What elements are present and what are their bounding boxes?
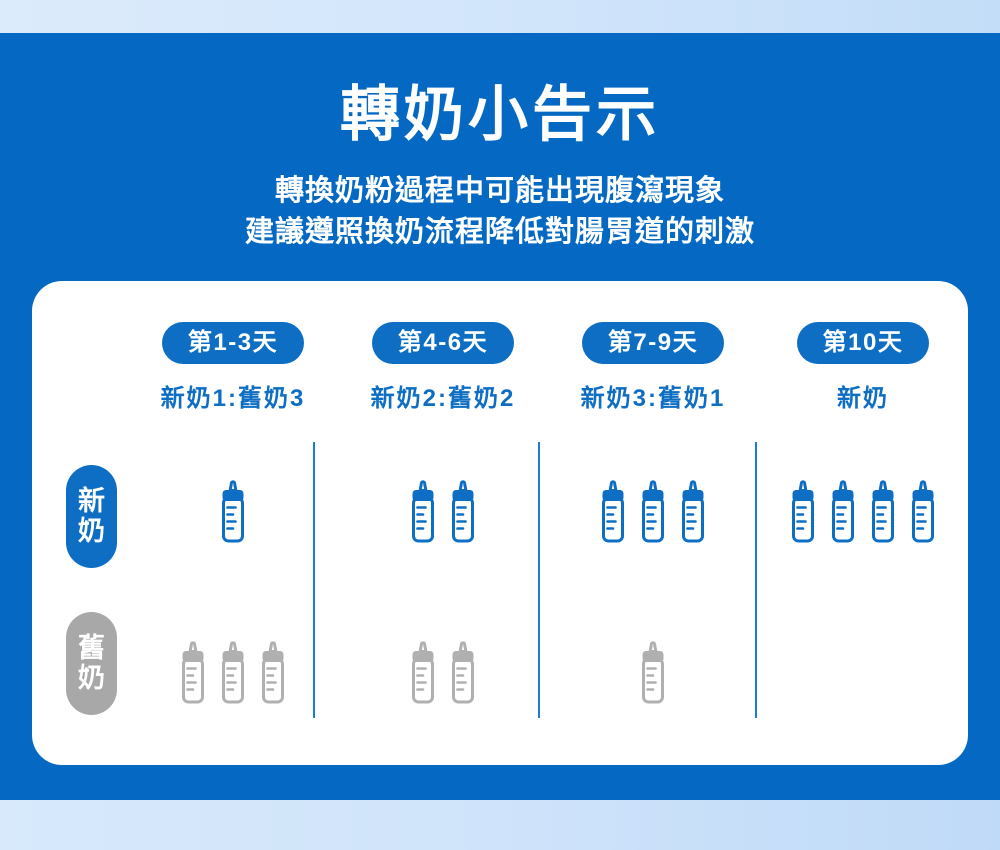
- bottle-teat: [270, 643, 276, 652]
- baby-bottle-icon: [676, 477, 710, 545]
- page-title: 轉奶小告示: [0, 85, 1000, 145]
- bottle-teat: [840, 482, 846, 491]
- subtitle-line-2: 建議遵照換奶流程降低對腸胃道的刺激: [0, 212, 1000, 253]
- bottle-teat: [420, 482, 426, 491]
- bottle-body: [454, 498, 473, 541]
- bottle-body: [644, 659, 663, 702]
- bottle-teat: [690, 482, 696, 491]
- bottle-teat: [800, 482, 806, 491]
- bottle-body: [414, 498, 433, 541]
- page-subtitle: 轉換奶粉過程中可能出現腹瀉現象 建議遵照換奶流程降低對腸胃道的刺激: [0, 171, 1000, 253]
- poster-header: 轉奶小告示 轉換奶粉過程中可能出現腹瀉現象 建議遵照換奶流程降低對腸胃道的刺激: [0, 33, 1000, 253]
- baby-bottle-icon: [866, 477, 900, 545]
- bottom-decorative-band: [0, 800, 1000, 850]
- bottle-cell-new-col-3: [548, 442, 758, 580]
- column-headers: 第1-3天 新奶1:舊奶3 第4-6天 新奶2:舊奶2 第7-9天 新奶3:舊奶…: [128, 322, 968, 413]
- ratio-label-1: 新奶1:舊奶3: [128, 378, 338, 413]
- bottle-teat: [880, 482, 886, 491]
- bottle-body: [224, 498, 243, 541]
- baby-bottle-icon: [216, 477, 250, 545]
- bottle-body: [834, 498, 853, 541]
- baby-bottle-icon: [406, 638, 440, 706]
- bottle-teat: [920, 482, 926, 491]
- subtitle-line-1: 轉換奶粉過程中可能出現腹瀉現象: [0, 171, 1000, 212]
- bottle-body: [454, 659, 473, 702]
- bottle-grid: [128, 442, 968, 718]
- bottle-cell-old-col-1: [128, 580, 338, 718]
- baby-bottle-icon: [826, 477, 860, 545]
- bottle-body: [414, 659, 433, 702]
- baby-bottle-icon: [256, 638, 290, 706]
- baby-bottle-icon: [176, 638, 210, 706]
- bottle-teat: [610, 482, 616, 491]
- bottle-cell-old-col-4: [758, 580, 968, 718]
- bottle-teat: [230, 482, 236, 491]
- baby-bottle-icon: [906, 477, 940, 545]
- baby-bottle-icon: [786, 477, 820, 545]
- bottle-cell-old-col-3: [548, 580, 758, 718]
- bottle-teat: [420, 643, 426, 652]
- bottle-cell-new-col-4: [758, 442, 968, 580]
- top-decorative-band: [0, 0, 1000, 33]
- column-header-3: 第7-9天 新奶3:舊奶1: [548, 322, 758, 413]
- bottle-teat: [460, 643, 466, 652]
- column-header-1: 第1-3天 新奶1:舊奶3: [128, 322, 338, 413]
- day-pill-2: 第4-6天: [372, 322, 514, 364]
- bottle-body: [264, 659, 283, 702]
- bottle-cell-new-col-1: [128, 442, 338, 580]
- bottle-body: [684, 498, 703, 541]
- row-badge-old-milk-label: 舊奶: [66, 634, 117, 692]
- row-badge-new-milk-label: 新奶: [66, 487, 117, 545]
- baby-bottle-icon: [406, 477, 440, 545]
- bottle-body: [184, 659, 203, 702]
- bottle-body: [224, 659, 243, 702]
- column-header-4: 第10天 新奶: [758, 322, 968, 413]
- baby-bottle-icon: [216, 638, 250, 706]
- bottle-teat: [230, 643, 236, 652]
- bottle-body: [644, 498, 663, 541]
- day-pill-1: 第1-3天: [162, 322, 304, 364]
- bottle-cell-old-col-2: [338, 580, 548, 718]
- bottle-row-old-milk: [128, 580, 968, 718]
- column-header-2: 第4-6天 新奶2:舊奶2: [338, 322, 548, 413]
- bottle-teat: [650, 643, 656, 652]
- day-pill-3: 第7-9天: [582, 322, 724, 364]
- ratio-label-3: 新奶3:舊奶1: [548, 378, 758, 413]
- poster-root: 轉奶小告示 轉換奶粉過程中可能出現腹瀉現象 建議遵照換奶流程降低對腸胃道的刺激 …: [0, 0, 1000, 850]
- baby-bottle-icon: [636, 638, 670, 706]
- row-badge-new-milk: 新奶: [66, 465, 117, 568]
- baby-bottle-icon: [596, 477, 630, 545]
- bottle-body: [874, 498, 893, 541]
- baby-bottle-icon: [446, 638, 480, 706]
- baby-bottle-icon: [636, 477, 670, 545]
- bottle-body: [604, 498, 623, 541]
- bottle-teat: [650, 482, 656, 491]
- bottle-teat: [190, 643, 196, 652]
- day-pill-4: 第10天: [797, 322, 930, 364]
- bottle-row-new-milk: [128, 442, 968, 580]
- ratio-label-4: 新奶: [758, 378, 968, 413]
- ratio-label-2: 新奶2:舊奶2: [338, 378, 548, 413]
- bottle-body: [914, 498, 933, 541]
- bottle-body: [794, 498, 813, 541]
- row-badge-old-milk: 舊奶: [66, 612, 117, 715]
- bottle-cell-new-col-2: [338, 442, 548, 580]
- bottle-teat: [460, 482, 466, 491]
- baby-bottle-icon: [446, 477, 480, 545]
- schedule-card: 第1-3天 新奶1:舊奶3 第4-6天 新奶2:舊奶2 第7-9天 新奶3:舊奶…: [32, 281, 968, 765]
